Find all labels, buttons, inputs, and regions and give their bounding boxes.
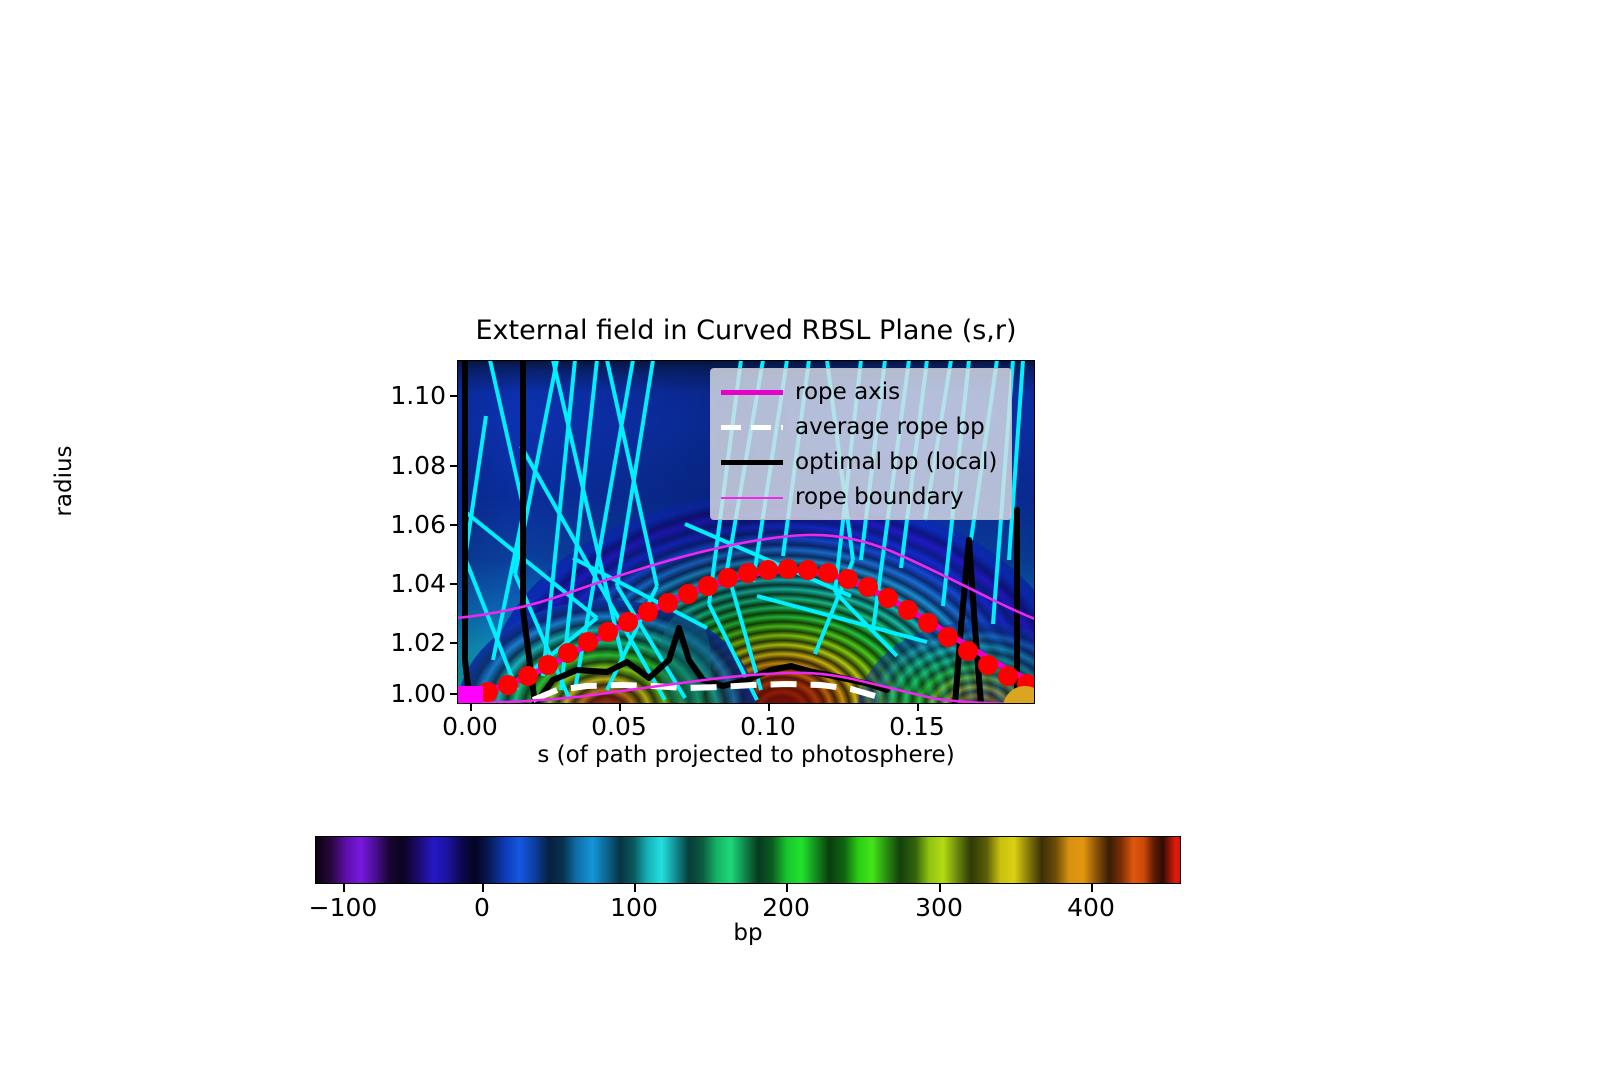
legend[interactable]: rope axis average rope bp optimal bp (lo… <box>710 368 1012 520</box>
colorbar-tick-mark <box>1091 884 1093 892</box>
black-line-icon <box>721 454 783 472</box>
legend-label: optimal bp (local) <box>795 451 997 474</box>
colorbar-tick-label: 100 <box>564 894 704 921</box>
colorbar-tick-mark <box>786 884 788 892</box>
colorbar-tick-label: 200 <box>716 894 856 921</box>
x-axis-label: s (of path projected to photosphere) <box>457 742 1035 768</box>
legend-item-average-rope-bp[interactable]: average rope bp <box>711 410 1011 445</box>
y-tick-mark <box>450 693 457 695</box>
legend-item-rope-boundary[interactable]: rope boundary <box>711 480 1011 515</box>
colorbar-gradient <box>315 836 1181 884</box>
y-tick-mark <box>450 465 457 467</box>
y-tick-label: 1.04 <box>336 571 446 596</box>
x-tick-label: 0.05 <box>559 714 679 740</box>
y-tick-label: 1.00 <box>336 681 446 706</box>
legend-item-rope-axis[interactable]: rope axis <box>711 375 1011 410</box>
colorbar-tick-label: 300 <box>869 894 1009 921</box>
rope-axis-start-marker <box>457 686 483 704</box>
legend-label: average rope bp <box>795 416 985 439</box>
colorbar[interactable] <box>315 836 1181 884</box>
y-tick-mark <box>450 395 457 397</box>
colorbar-tick-mark <box>634 884 636 892</box>
y-tick-label: 1.02 <box>336 630 446 655</box>
y-tick-label: 1.10 <box>336 383 446 408</box>
x-tick-label: 0.00 <box>410 714 530 740</box>
y-axis-label: radius <box>51 411 77 551</box>
colorbar-tick-mark <box>939 884 941 892</box>
colorbar-label: bp <box>315 920 1181 946</box>
rope-axis-line-icon <box>721 384 783 402</box>
colorbar-tick-label: 400 <box>1021 894 1161 921</box>
y-tick-mark <box>450 642 457 644</box>
x-tick-mark <box>768 704 770 711</box>
colorbar-tick-mark <box>482 884 484 892</box>
legend-label: rope axis <box>795 381 900 404</box>
colorbar-tick-label: 0 <box>412 894 552 921</box>
dashed-line-icon <box>721 419 783 437</box>
colorbar-tick-mark <box>343 884 345 892</box>
x-tick-mark <box>619 704 621 711</box>
x-tick-mark <box>917 704 919 711</box>
x-tick-mark <box>470 704 472 711</box>
y-tick-mark <box>450 524 457 526</box>
x-tick-label: 0.15 <box>857 714 977 740</box>
colorbar-tick-label: −100 <box>273 894 413 921</box>
y-tick-mark <box>450 583 457 585</box>
thin-magenta-line-icon <box>721 489 783 507</box>
y-tick-label: 1.08 <box>336 453 446 478</box>
legend-label: rope boundary <box>795 486 964 509</box>
legend-item-optimal-bp[interactable]: optimal bp (local) <box>711 445 1011 480</box>
rope-end-marker <box>1003 686 1035 704</box>
y-tick-label: 1.06 <box>336 512 446 537</box>
page-title: External field in Curved RBSL Plane (s,r… <box>457 314 1035 348</box>
x-tick-label: 0.10 <box>708 714 828 740</box>
figure: External field in Curved RBSL Plane (s,r… <box>0 0 1606 1080</box>
